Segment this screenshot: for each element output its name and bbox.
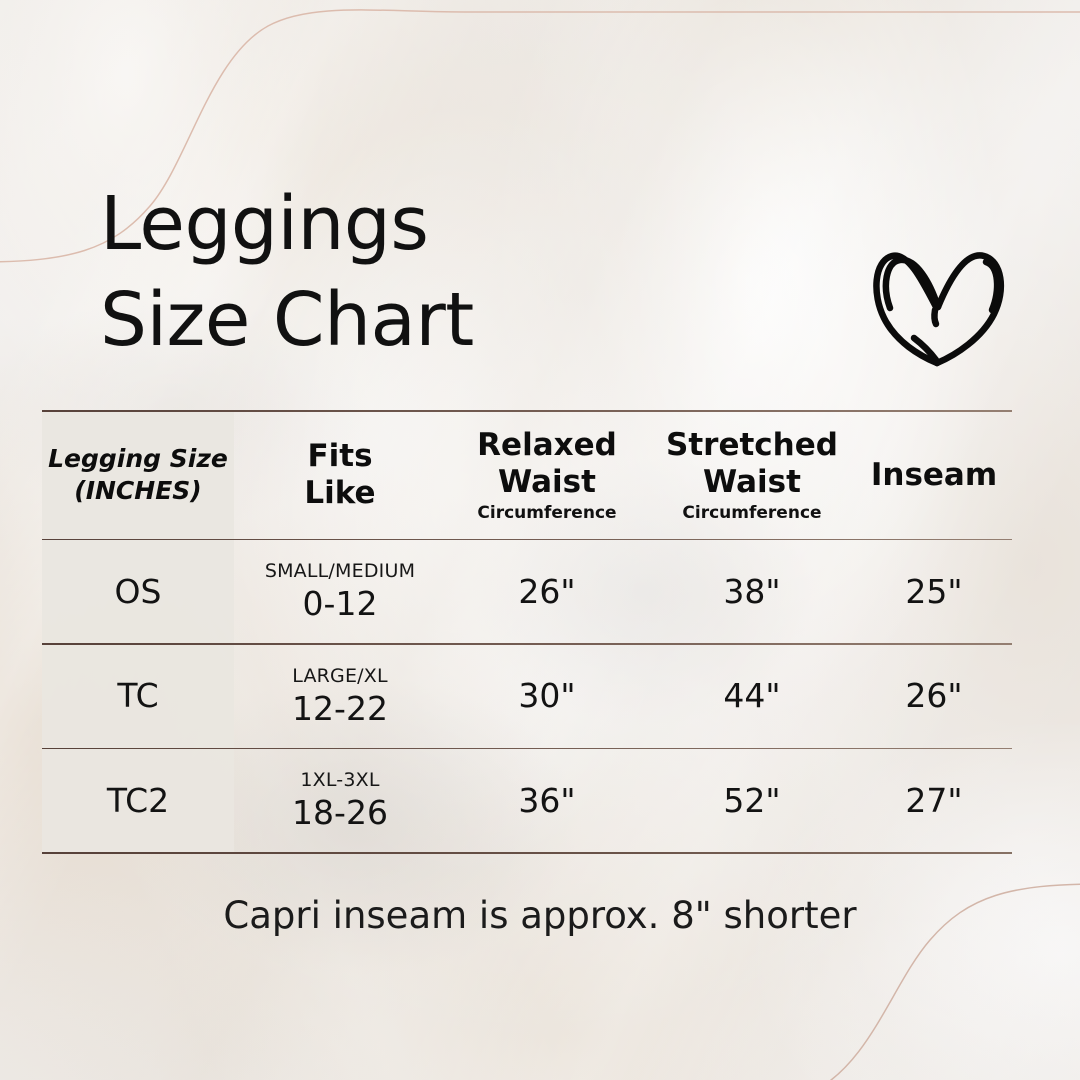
row-size: TC bbox=[42, 676, 234, 716]
header-stretched-waist: Stretched Waist Circumference bbox=[648, 427, 856, 524]
header-stretched-waist-line-2: Waist bbox=[648, 464, 856, 501]
row-fits-like: SMALL/MEDIUM 0-12 bbox=[234, 560, 446, 623]
row-relaxed-waist: 36" bbox=[446, 781, 648, 821]
size-chart-table: Legging Size (INCHES) Fits Like Relaxed … bbox=[42, 410, 1012, 854]
row-fits-like: 1XL-3XL 18-26 bbox=[234, 769, 446, 832]
table-row: TC2 1XL-3XL 18-26 36" 52" 27" bbox=[42, 749, 1012, 852]
table-header-row: Legging Size (INCHES) Fits Like Relaxed … bbox=[42, 412, 1012, 539]
heart-doodle-icon bbox=[866, 228, 1014, 368]
page-content: Leggings Size Chart Legging Size (INCHES… bbox=[0, 0, 1080, 1080]
row-inseam: 26" bbox=[856, 676, 1012, 716]
row-stretched-waist: 38" bbox=[648, 572, 856, 612]
table-rule-bottom bbox=[42, 852, 1012, 854]
header-relaxed-waist-sub: Circumference bbox=[446, 502, 648, 524]
row-stretched-waist: 52" bbox=[648, 781, 856, 821]
row-fits-like-range: 12-22 bbox=[234, 689, 446, 728]
header-fits-like-line-2: Like bbox=[234, 475, 446, 512]
row-fits-like-range: 18-26 bbox=[234, 793, 446, 832]
header-stretched-waist-sub: Circumference bbox=[648, 502, 856, 524]
table-row: OS SMALL/MEDIUM 0-12 26" 38" 25" bbox=[42, 540, 1012, 643]
table-row: TC LARGE/XL 12-22 30" 44" 26" bbox=[42, 645, 1012, 748]
header-relaxed-waist: Relaxed Waist Circumference bbox=[446, 427, 648, 524]
row-fits-like: LARGE/XL 12-22 bbox=[234, 665, 446, 728]
row-size: TC2 bbox=[42, 781, 234, 821]
row-stretched-waist: 44" bbox=[648, 676, 856, 716]
footnote-text: Capri inseam is approx. 8" shorter bbox=[0, 893, 1080, 939]
header-stretched-waist-line-1: Stretched bbox=[648, 427, 856, 464]
row-inseam: 25" bbox=[856, 572, 1012, 612]
header-relaxed-waist-line-1: Relaxed bbox=[446, 427, 648, 464]
heart-doodle bbox=[866, 228, 1014, 368]
header-fits-like: Fits Like bbox=[234, 438, 446, 512]
header-legging-size-main: Legging Size bbox=[42, 443, 234, 475]
header-fits-like-line-1: Fits bbox=[234, 438, 446, 475]
page-title-line-2: Size Chart bbox=[100, 272, 740, 368]
header-relaxed-waist-line-2: Waist bbox=[446, 464, 648, 501]
row-inseam: 27" bbox=[856, 781, 1012, 821]
page-title-line-1: Leggings bbox=[100, 176, 740, 272]
page-title: Leggings Size Chart bbox=[100, 176, 740, 368]
row-fits-like-label: 1XL-3XL bbox=[234, 769, 446, 792]
row-relaxed-waist: 30" bbox=[446, 676, 648, 716]
row-relaxed-waist: 26" bbox=[446, 572, 648, 612]
row-fits-like-range: 0-12 bbox=[234, 584, 446, 623]
header-inseam: Inseam bbox=[856, 457, 1012, 494]
header-legging-size-units: (INCHES) bbox=[42, 475, 234, 507]
row-fits-like-label: LARGE/XL bbox=[234, 665, 446, 688]
header-legging-size: Legging Size (INCHES) bbox=[42, 443, 234, 507]
row-size: OS bbox=[42, 572, 234, 612]
header-inseam-label: Inseam bbox=[856, 457, 1012, 494]
row-fits-like-label: SMALL/MEDIUM bbox=[234, 560, 446, 583]
